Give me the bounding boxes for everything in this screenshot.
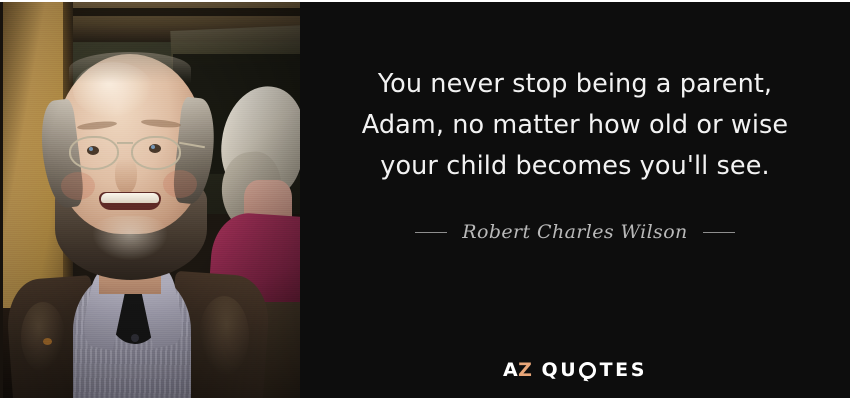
speech-bubble-icon	[579, 362, 596, 379]
attribution-author-name[interactable]: Robert Charles Wilson	[462, 221, 687, 243]
quote-panel: You never stop being a parent, Adam, no …	[300, 2, 850, 398]
quote-card: You never stop being a parent, Adam, no …	[0, 0, 850, 400]
attribution-rule-right	[703, 232, 735, 233]
author-photo	[0, 2, 300, 398]
logo-az-mark: AZ	[503, 361, 533, 380]
logo-quotes-word: QUTES	[541, 361, 647, 380]
attribution: Robert Charles Wilson	[415, 221, 734, 243]
logo-letter-z: Z	[518, 359, 532, 381]
quote-text: You never stop being a parent, Adam, no …	[340, 64, 810, 187]
azquotes-logo[interactable]: AZ QUTES	[300, 361, 850, 380]
logo-quotes-tail: TES	[600, 361, 647, 380]
logo-quotes-lead: QU	[541, 361, 578, 380]
logo-letter-a: A	[503, 359, 518, 381]
photo-grain	[3, 2, 300, 398]
attribution-rule-left	[415, 232, 447, 233]
